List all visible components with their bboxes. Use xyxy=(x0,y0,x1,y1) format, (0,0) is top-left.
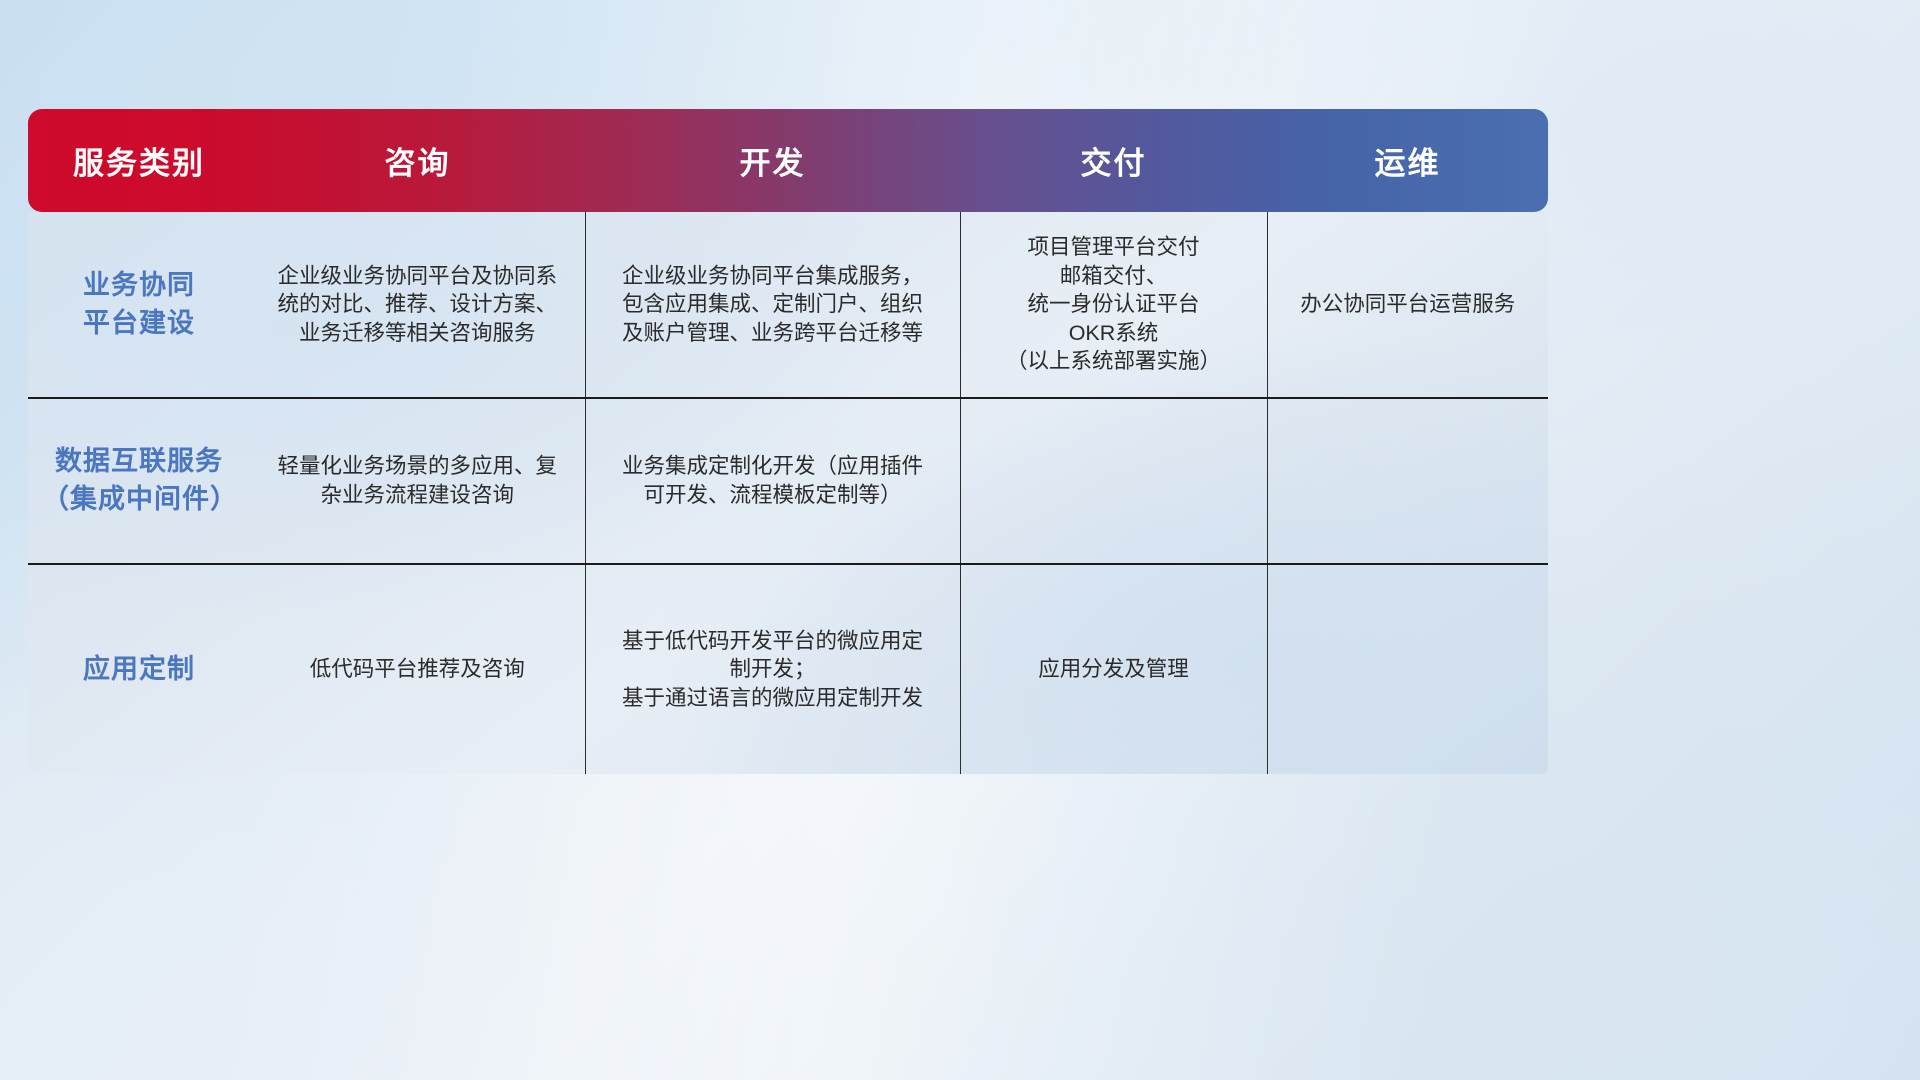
cell-operations xyxy=(1267,564,1548,774)
cell-delivery: 项目管理平台交付 邮箱交付、 统一身份认证平台 OKR系统 （以上系统部署实施） xyxy=(960,212,1267,398)
cell-consulting: 企业级业务协同平台及协同系 统的对比、推荐、设计方案、 业务迁移等相关咨询服务 xyxy=(250,212,585,398)
cell-text: 轻量化业务场景的多应用、复 杂业务流程建设咨询 xyxy=(264,452,571,509)
column-header-service-category: 服务类别 xyxy=(28,109,250,212)
header-row: 服务类别 咨询 开发 交付 运维 xyxy=(28,109,1548,212)
column-header-delivery: 交付 xyxy=(960,109,1267,212)
cell-operations xyxy=(1267,398,1548,564)
column-header-development: 开发 xyxy=(585,109,960,212)
cell-text: 企业级业务协同平台及协同系 统的对比、推荐、设计方案、 业务迁移等相关咨询服务 xyxy=(264,262,571,348)
cell-consulting: 低代码平台推荐及咨询 xyxy=(250,564,585,774)
cell-development: 基于低代码开发平台的微应用定 制开发； 基于通过语言的微应用定制开发 xyxy=(585,564,960,774)
cell-text: 基于低代码开发平台的微应用定 制开发； 基于通过语言的微应用定制开发 xyxy=(600,627,946,713)
row-category-label: 应用定制 xyxy=(28,564,250,774)
table-header: 服务类别 咨询 开发 交付 运维 xyxy=(28,109,1548,212)
column-header-operations: 运维 xyxy=(1267,109,1548,212)
cell-operations: 办公协同平台运营服务 xyxy=(1267,212,1548,398)
column-header-label: 服务类别 xyxy=(28,138,250,183)
column-header-label: 交付 xyxy=(960,138,1267,183)
cell-development: 企业级业务协同平台集成服务， 包含应用集成、定制门户、组织 及账户管理、业务跨平… xyxy=(585,212,960,398)
category-text: 数据互联服务 （集成中间件） xyxy=(42,443,236,519)
category-text: 业务协同 平台建设 xyxy=(42,267,236,343)
column-header-label: 咨询 xyxy=(250,138,585,183)
row-category-label: 业务协同 平台建设 xyxy=(28,212,250,398)
table-body: 业务协同 平台建设 企业级业务协同平台及协同系 统的对比、推荐、设计方案、 业务… xyxy=(28,212,1548,774)
cell-consulting: 轻量化业务场景的多应用、复 杂业务流程建设咨询 xyxy=(250,398,585,564)
table: 服务类别 咨询 开发 交付 运维 xyxy=(28,109,1548,774)
cell-development: 业务集成定制化开发（应用插件 可开发、流程模板定制等） xyxy=(585,398,960,564)
table-row: 数据互联服务 （集成中间件） 轻量化业务场景的多应用、复 杂业务流程建设咨询 业… xyxy=(28,398,1548,564)
cell-delivery: 应用分发及管理 xyxy=(960,564,1267,774)
cell-text: 低代码平台推荐及咨询 xyxy=(264,655,571,684)
column-header-label: 运维 xyxy=(1267,138,1548,183)
column-header-label: 开发 xyxy=(585,138,960,183)
cell-text: 企业级业务协同平台集成服务， 包含应用集成、定制门户、组织 及账户管理、业务跨平… xyxy=(600,262,946,348)
table-row: 业务协同 平台建设 企业级业务协同平台及协同系 统的对比、推荐、设计方案、 业务… xyxy=(28,212,1548,398)
category-text: 应用定制 xyxy=(42,651,236,689)
cell-text: 项目管理平台交付 邮箱交付、 统一身份认证平台 OKR系统 （以上系统部署实施） xyxy=(975,233,1253,376)
service-matrix-table: 服务类别 咨询 开发 交付 运维 xyxy=(28,109,1548,774)
row-category-label: 数据互联服务 （集成中间件） xyxy=(28,398,250,564)
page-background: 服务类别 咨询 开发 交付 运维 xyxy=(0,0,1920,1080)
column-header-consulting: 咨询 xyxy=(250,109,585,212)
cell-text: 办公协同平台运营服务 xyxy=(1282,290,1535,319)
cell-delivery xyxy=(960,398,1267,564)
cell-text: 业务集成定制化开发（应用插件 可开发、流程模板定制等） xyxy=(600,452,946,509)
table-row: 应用定制 低代码平台推荐及咨询 基于低代码开发平台的微应用定 制开发； 基于通过… xyxy=(28,564,1548,774)
cell-text: 应用分发及管理 xyxy=(975,655,1253,684)
